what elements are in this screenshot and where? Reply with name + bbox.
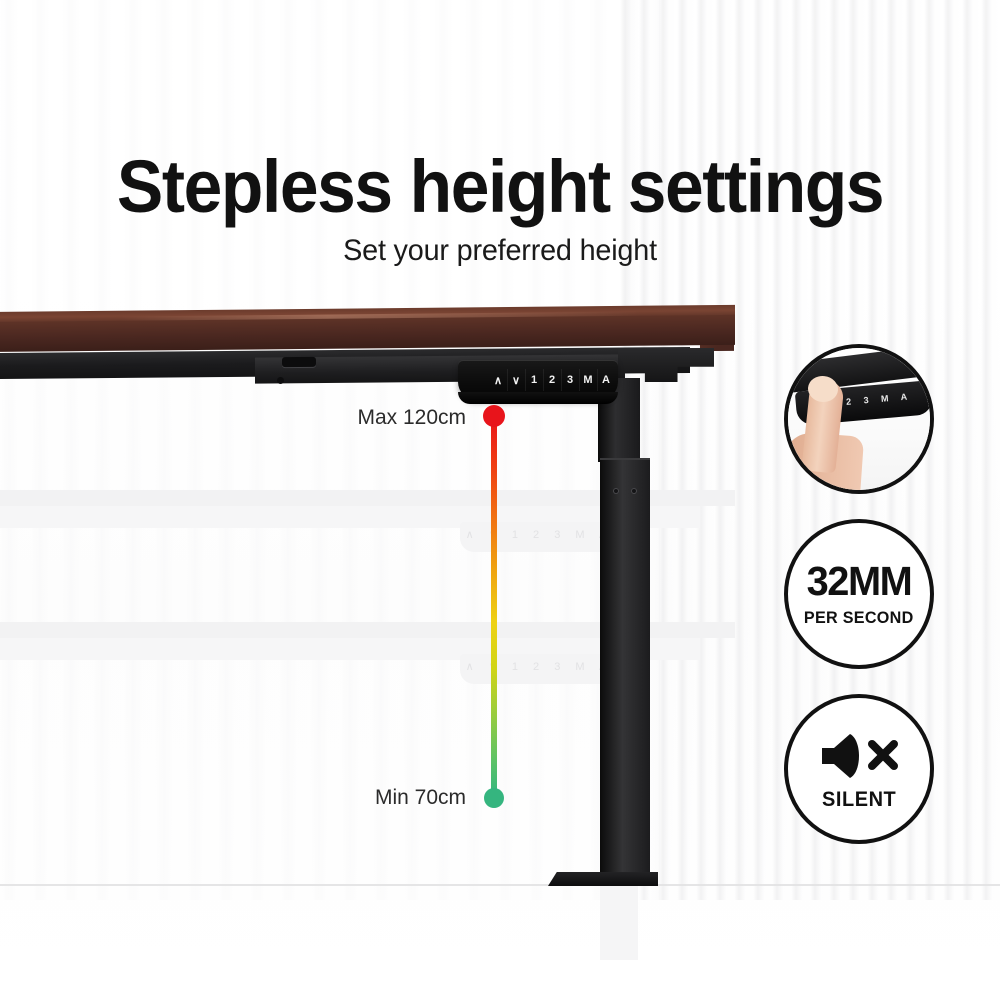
key-preset-2[interactable]: 2 — [544, 369, 562, 391]
badge-touch-keypad-photo: 2 3 M A — [784, 344, 934, 494]
key-memory[interactable]: M — [580, 369, 598, 391]
leg-bolt — [613, 488, 619, 494]
key-auto[interactable]: A — [598, 369, 615, 391]
key-down-icon[interactable]: ∨ — [508, 369, 526, 391]
control-panel-keys: ∧ ∨ 1 2 3 M A — [462, 369, 615, 391]
desktop-front-edge — [0, 315, 735, 352]
leg-stage-lower — [600, 460, 650, 880]
standing-desk: ∧ ∨ 1 2 3 M A — [0, 0, 760, 900]
lift-speed-value: 32MM — [807, 561, 912, 602]
key-preset-3[interactable]: 3 — [562, 369, 580, 391]
keypad-photo: 2 3 M A — [788, 348, 930, 490]
silent-label: SILENT — [822, 788, 896, 812]
lift-speed-unit: PER SECOND — [804, 608, 914, 628]
mute-speaker-icon — [816, 730, 902, 782]
key-up-icon[interactable]: ∧ — [490, 369, 508, 391]
badge-silent: SILENT — [784, 694, 934, 844]
control-panel-lip — [458, 392, 618, 404]
height-range-gradient-line — [491, 416, 497, 800]
max-height-marker-dot — [483, 405, 505, 427]
product-feature-image: ∧ ∨ 1 2 3 M A ∧ ∨ 1 2 3 M A ∧ ∨ 1 — [0, 0, 1000, 1000]
key-preset-1[interactable]: 1 — [526, 369, 544, 391]
frame-bracket — [618, 348, 714, 382]
leg-bolt — [631, 488, 637, 494]
rail-bolt — [277, 377, 284, 384]
leg-foot — [548, 872, 658, 886]
page-title: Stepless height settings — [30, 150, 970, 224]
min-height-label: Min 70cm — [206, 786, 466, 810]
page-subtitle: Set your preferred height — [20, 234, 980, 268]
min-height-marker-dot — [484, 788, 504, 808]
cable-slot — [282, 357, 316, 367]
max-height-label: Max 120cm — [206, 406, 466, 430]
badge-lift-speed: 32MM PER SECOND — [784, 519, 934, 669]
